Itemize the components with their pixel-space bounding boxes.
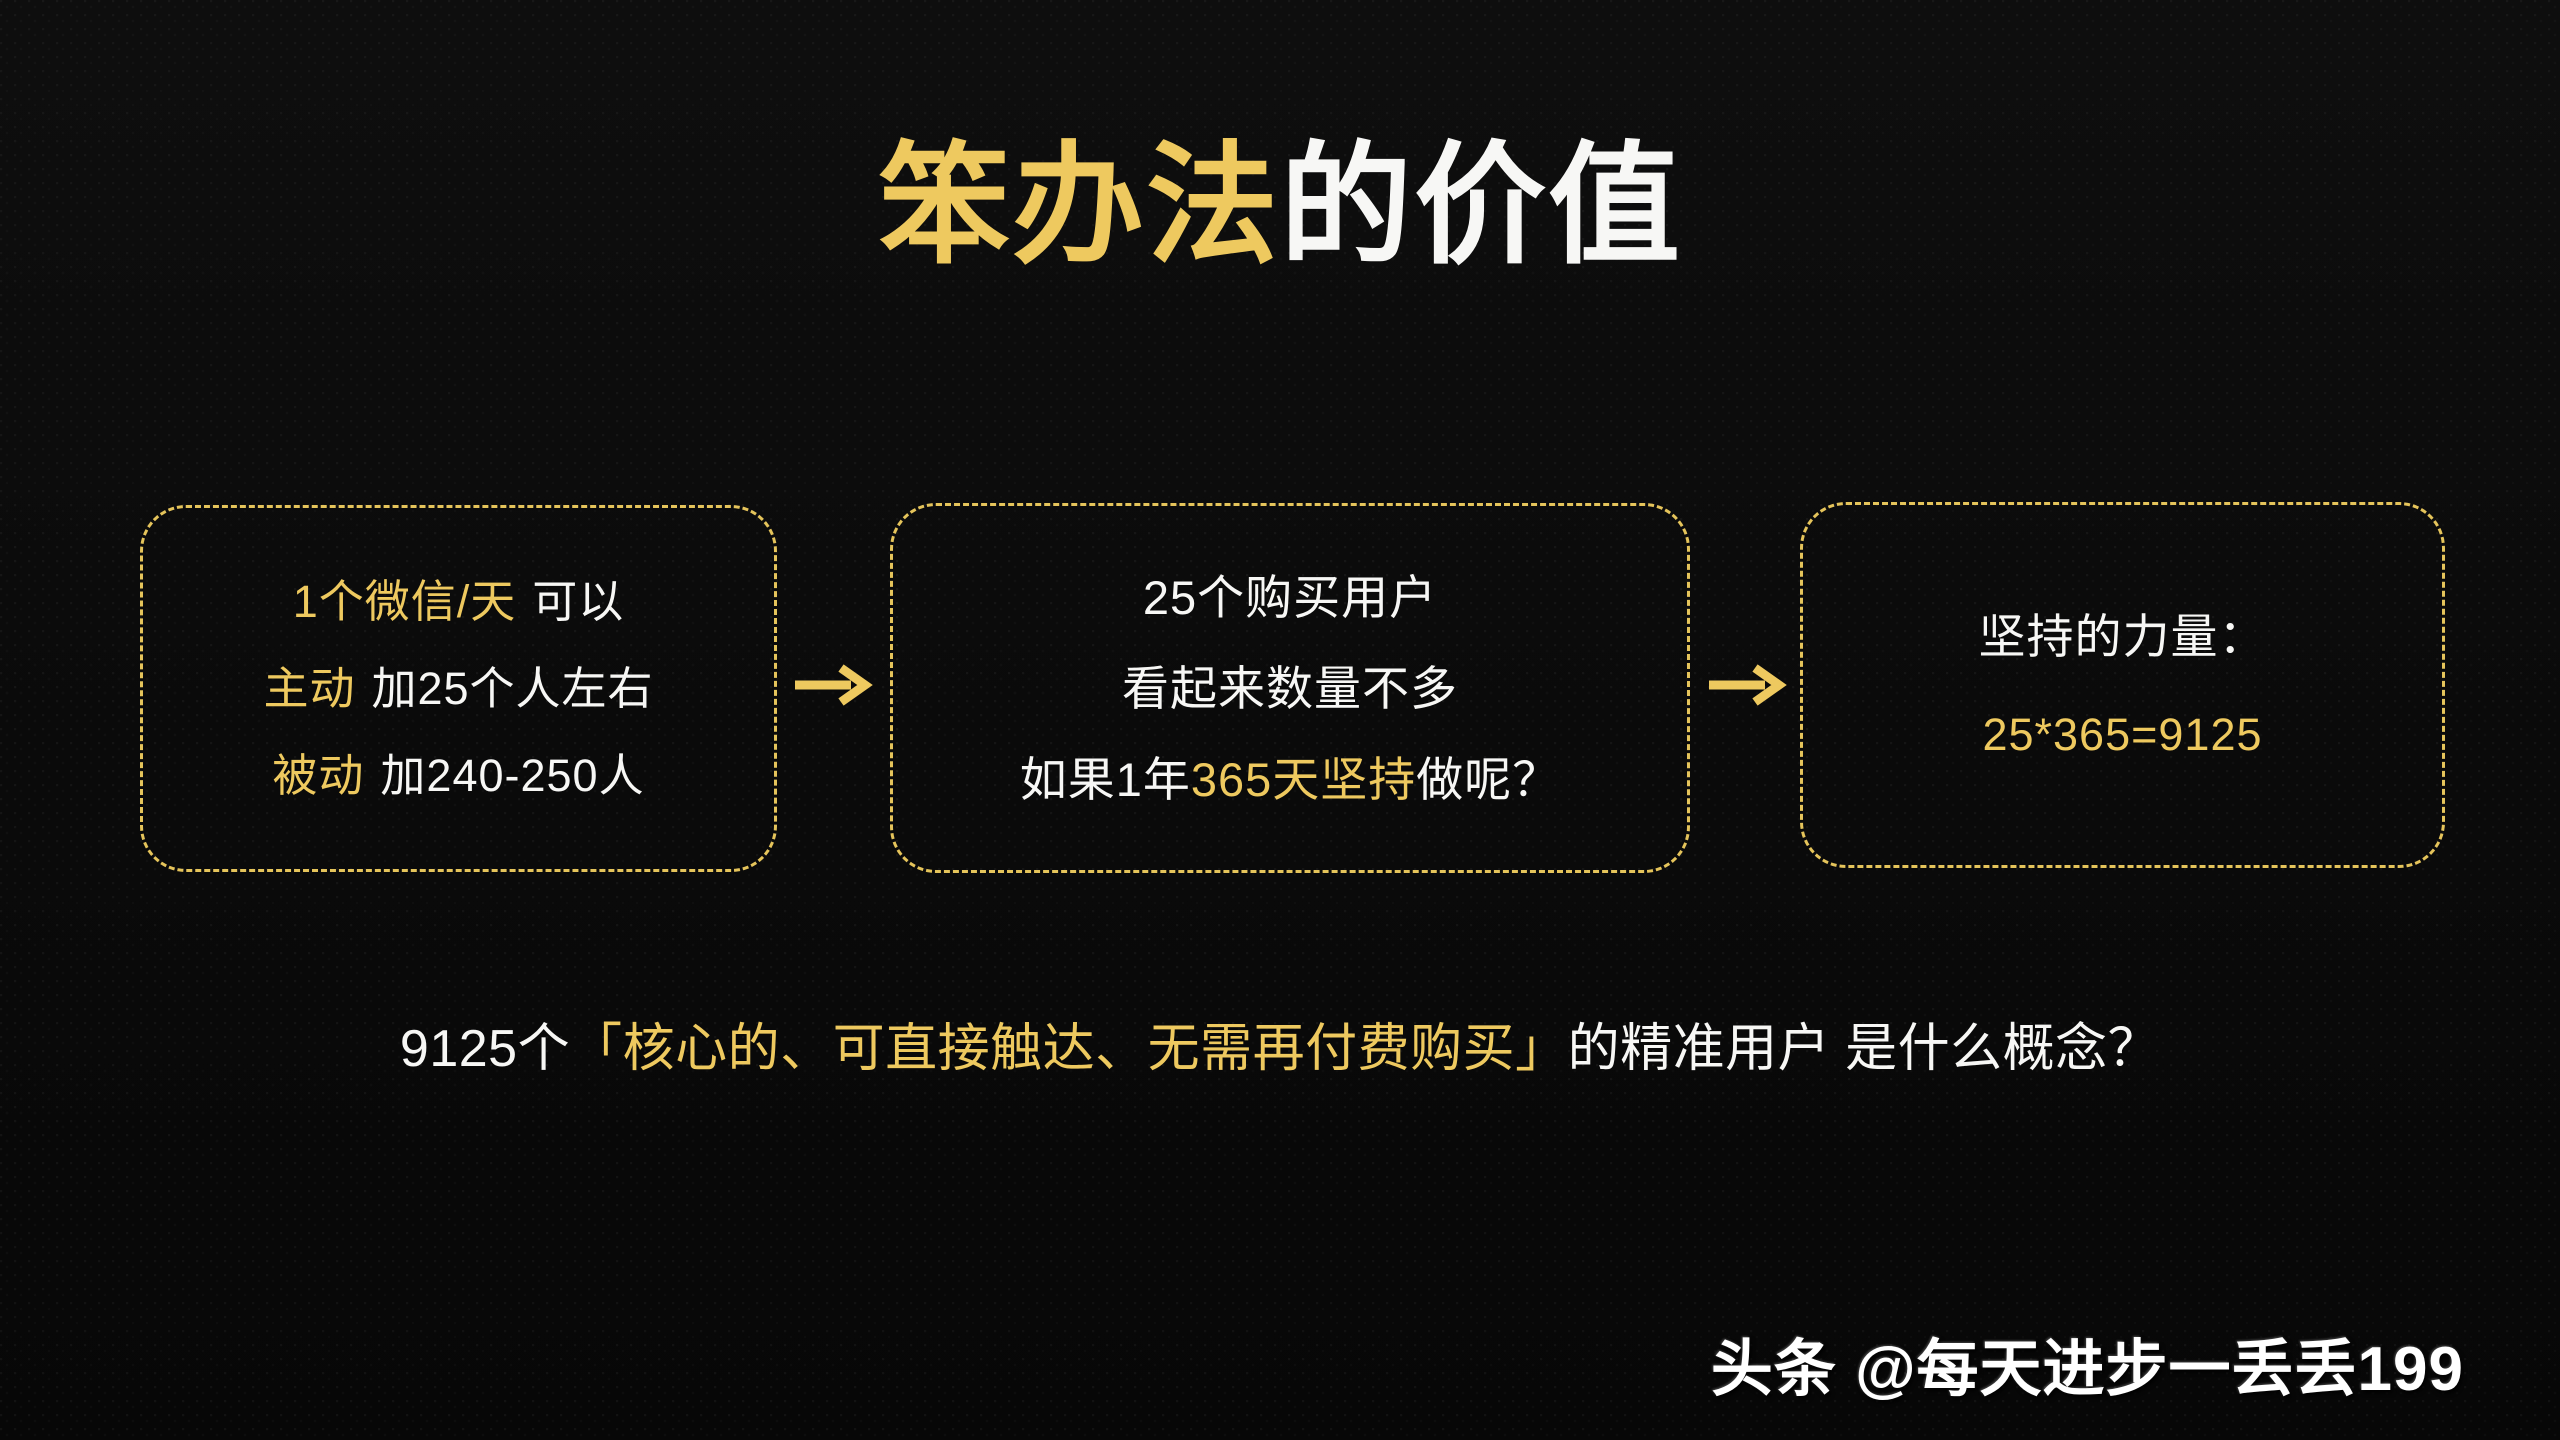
box1-line3-white: 加240-250人 (380, 750, 644, 801)
box3-line2-gold: 25*365=9125 (1982, 709, 2262, 760)
arrow-right-icon-2 (1707, 662, 1787, 708)
flow-box-2: 25个购买用户 看起来数量不多 如果1年365天坚持做呢？ (890, 503, 1690, 873)
slide-canvas: 笨办法的价值 1个微信/天可以 主动加25个人左右 被动加240-250人 25… (0, 0, 2560, 1440)
title-rest: 的价值 (1280, 132, 1682, 279)
box2-line3-white-pre: 如果1年 (1020, 753, 1191, 806)
caption-white-pre: 9125个 (400, 1020, 570, 1078)
box2-line2-white: 看起来数量不多 (1122, 662, 1458, 715)
box2-line3-gold: 365天坚持 (1191, 753, 1416, 806)
box1-line2-gold: 主动 (263, 663, 355, 714)
box2-line-1: 25个购买用户 (1143, 574, 1437, 621)
arrow-right-icon-1 (793, 662, 873, 708)
box2-line-3: 如果1年365天坚持做呢？ (1020, 756, 1561, 803)
caption-white-post: 的精准用户 是什么概念？ (1568, 1020, 2160, 1078)
box1-line-1: 1个微信/天可以 (293, 579, 625, 624)
flow-box-1: 1个微信/天可以 主动加25个人左右 被动加240-250人 (140, 505, 777, 872)
flow-box-3: 坚持的力量： 25*365=9125 (1800, 502, 2445, 868)
box1-line3-gold: 被动 (272, 750, 364, 801)
box2-line1-white: 25个购买用户 (1143, 571, 1437, 624)
title-highlight: 笨办法 (878, 132, 1280, 279)
box1-line1-gold: 1个微信/天 (293, 576, 517, 627)
watermark: 头条 @每天进步一丢丢199 (1711, 1318, 2464, 1408)
caption-gold: 「核心的、可直接触达、无需再付费购买」 (570, 1020, 1568, 1078)
bottom-caption: 9125个「核心的、可直接触达、无需再付费购买」的精准用户 是什么概念？ (0, 1018, 2560, 1080)
box1-line-2: 主动加25个人左右 (263, 666, 653, 711)
box1-line-3: 被动加240-250人 (272, 753, 644, 798)
page-title: 笨办法的价值 (0, 128, 2560, 284)
box1-line1-white: 可以 (532, 576, 624, 627)
box3-line-1: 坚持的力量： (1979, 613, 2267, 660)
box2-line3-white-post: 做呢？ (1416, 753, 1560, 806)
box3-line-2: 25*365=9125 (1982, 712, 2262, 757)
box1-line2-white: 加25个人左右 (371, 663, 653, 714)
box3-line1-white: 坚持的力量： (1979, 610, 2267, 663)
box2-line-2: 看起来数量不多 (1122, 665, 1458, 712)
